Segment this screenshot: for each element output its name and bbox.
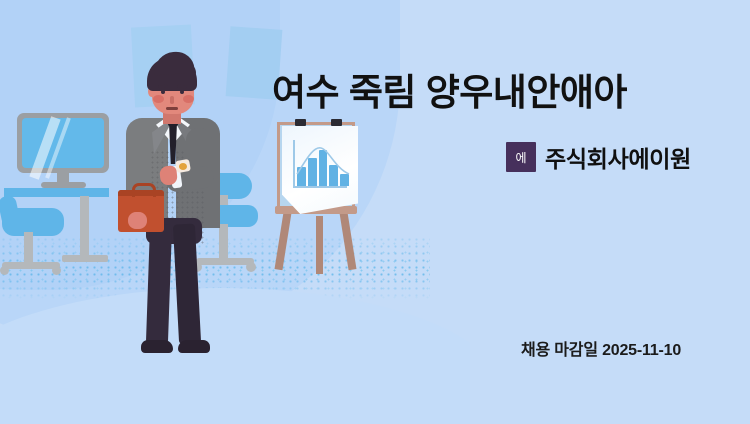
easel-leg-center — [316, 216, 323, 274]
flipchart-clip-right — [331, 119, 342, 126]
chair-right-base — [196, 258, 254, 265]
businessman-cheek-left — [153, 95, 164, 103]
company-name: 주식회사에이원 — [545, 140, 691, 174]
page-title: 여수 죽림 양우내안애아 — [272, 72, 732, 115]
office-illustration — [0, 0, 470, 424]
chair-left-wheel-2 — [52, 266, 61, 275]
businessman-eye-right — [180, 90, 184, 94]
desk-top — [4, 188, 109, 197]
chart-trend-curve — [295, 140, 349, 188]
company-row: 에 주식회사에이원 — [506, 140, 691, 174]
businessman-shoe-right — [178, 340, 210, 353]
chair-left-seat — [2, 208, 64, 236]
wristwatch-face — [179, 163, 187, 170]
businessman-leg-left — [146, 224, 172, 345]
chair-left-wheel-1 — [0, 266, 9, 275]
businessman-nose — [170, 96, 174, 104]
desk-leg — [80, 196, 89, 260]
briefcase-handle — [132, 183, 156, 197]
businessman-shoe-left — [141, 340, 173, 353]
businessman-hand-left — [128, 212, 147, 229]
businessman-eye-left — [161, 90, 165, 94]
company-badge: 에 — [506, 142, 536, 172]
desk-foot — [62, 255, 108, 262]
chair-right-wheel-2 — [246, 262, 256, 272]
businessman-mouth — [166, 107, 178, 110]
application-deadline: 채용 마감일 2025-11-10 — [521, 336, 681, 360]
flipchart-clip-left — [295, 119, 306, 126]
job-posting-banner: 여수 죽림 양우내안애아 에 주식회사에이원 채용 마감일 2025-11-10 — [0, 0, 750, 424]
floor — [0, 288, 470, 424]
businessman-cheek-right — [183, 95, 194, 103]
